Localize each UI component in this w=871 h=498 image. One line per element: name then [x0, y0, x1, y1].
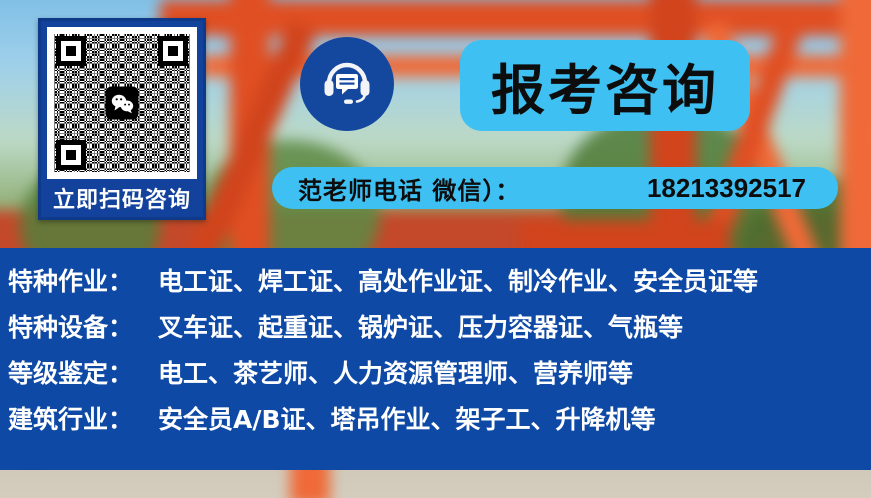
service-list-panel: 特种作业： 电工证、焊工证、高处作业证、制冷作业、安全员证等 特种设备： 叉车证… — [0, 248, 871, 470]
contact-pill[interactable]: 范老师电话 微信）： 18213392517 — [272, 167, 838, 209]
qr-finder-top-left — [56, 36, 86, 66]
service-row-items: 叉车证、起重证、锅炉证、压力容器证、气瓶等 — [158, 308, 683, 344]
qr-finder-top-right — [158, 36, 188, 66]
service-row-items: 电工证、焊工证、高处作业证、制冷作业、安全员证等 — [158, 262, 758, 298]
qr-finder-bottom-left — [56, 140, 86, 170]
service-badge — [300, 37, 394, 131]
title-pill-text: 报考咨询 — [491, 46, 719, 125]
contact-phone-number[interactable]: 18213392517 — [647, 173, 812, 204]
service-row-items: 安全员A/B证、塔吊作业、架子工、升降机等 — [158, 400, 656, 436]
qr-code-canvas — [47, 27, 197, 179]
headset-support-icon — [318, 53, 376, 116]
service-row: 特种设备： 叉车证、起重证、锅炉证、压力容器证、气瓶等 — [8, 308, 871, 354]
service-row: 等级鉴定： 电工、茶艺师、人力资源管理师、营养师等 — [8, 354, 871, 400]
qr-code-card[interactable]: 立即扫码咨询 — [38, 18, 206, 220]
contact-label: 范老师电话 微信）： — [298, 171, 520, 206]
service-row-label: 建筑行业： — [8, 400, 158, 436]
service-row-label: 等级鉴定： — [8, 354, 158, 390]
title-pill: 报考咨询 — [460, 40, 750, 131]
service-row-items: 电工、茶艺师、人力资源管理师、营养师等 — [158, 354, 633, 390]
wechat-icon — [106, 87, 139, 120]
qr-code-icon — [54, 34, 190, 172]
promotional-poster: 立即扫码咨询 报考咨询 范老师电话 微信）： 18213392517 — [0, 0, 871, 498]
service-row-label: 特种作业： — [8, 262, 158, 298]
qr-card-caption: 立即扫码咨询 — [47, 179, 197, 223]
service-row-label: 特种设备： — [8, 308, 158, 344]
service-row: 特种作业： 电工证、焊工证、高处作业证、制冷作业、安全员证等 — [8, 262, 871, 308]
service-row: 建筑行业： 安全员A/B证、塔吊作业、架子工、升降机等 — [8, 400, 871, 446]
